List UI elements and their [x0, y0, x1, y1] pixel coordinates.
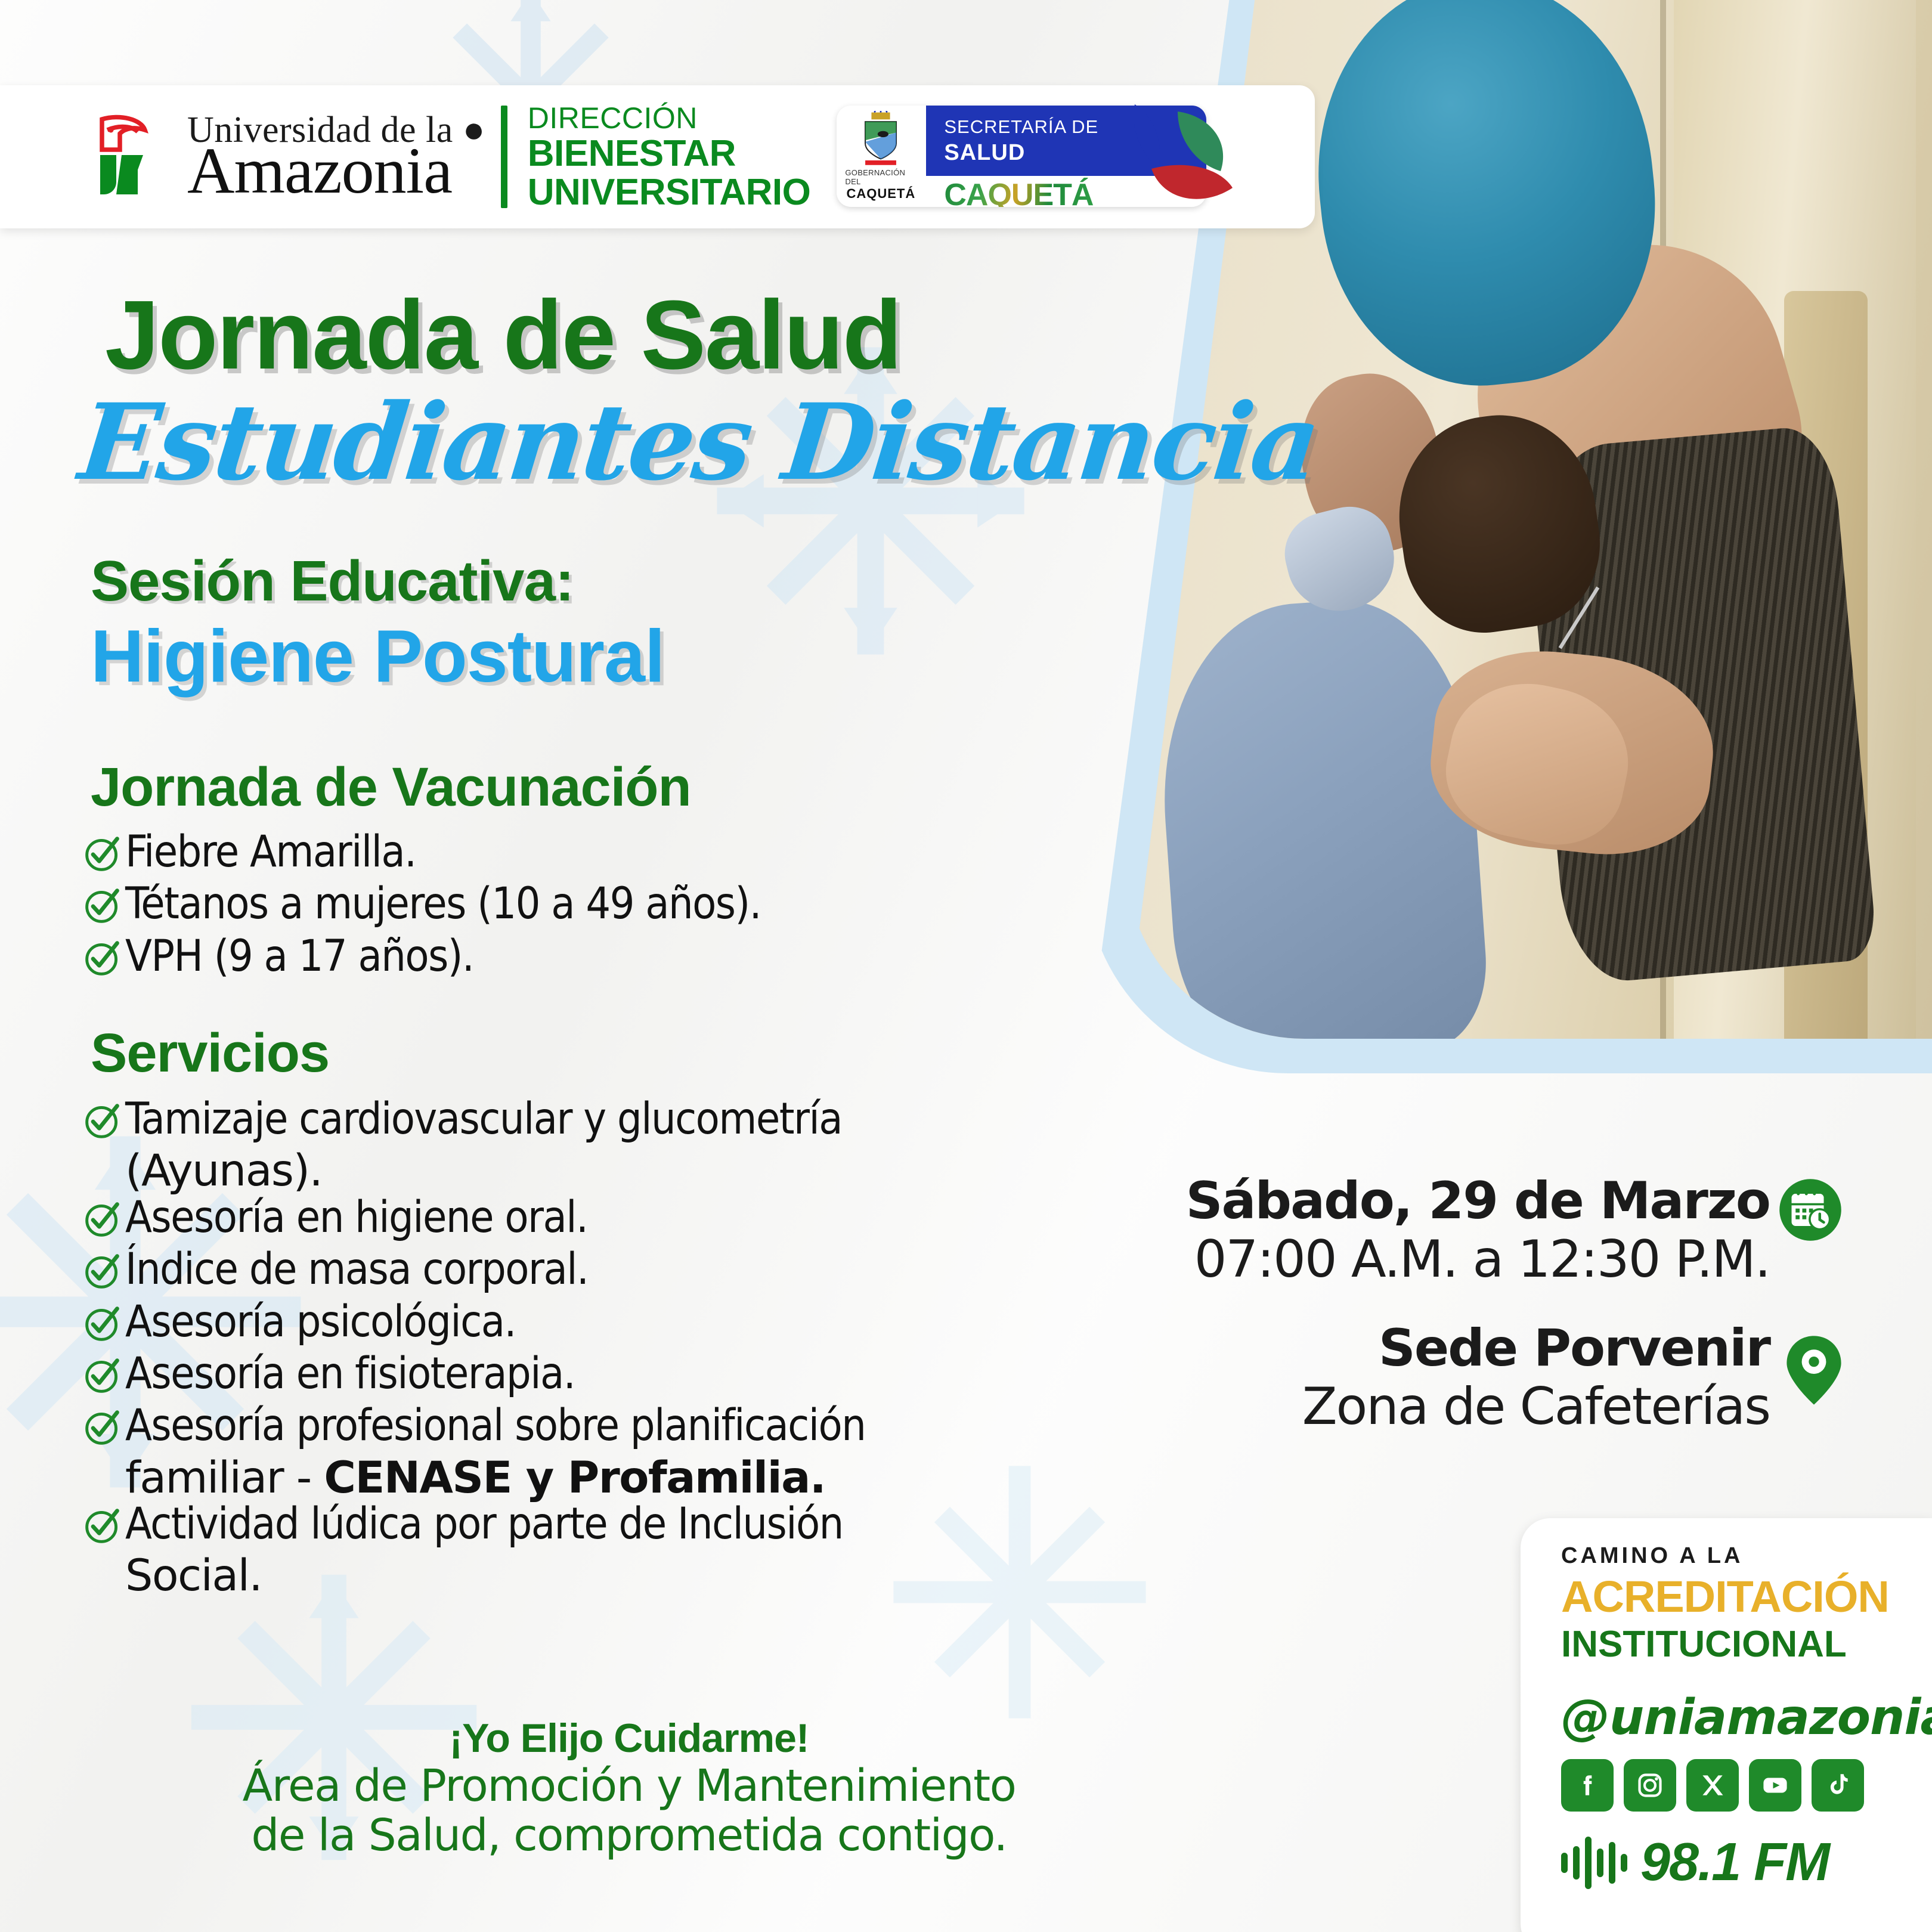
- list-item-label: VPH (9 a 17 años).: [125, 933, 473, 979]
- list-item: VPH (9 a 17 años).: [83, 933, 761, 979]
- check-circle-icon: [83, 1252, 122, 1290]
- list-item-continuation: (Ayunas).: [125, 1148, 865, 1194]
- poster-canvas: Universidad de la ● Amazonia DIRECCIÓN B…: [0, 0, 1932, 1932]
- event-datetime: Sábado, 29 de Marzo 07:00 A.M. a 12:30 P…: [1186, 1172, 1770, 1289]
- salud-label: SALUD: [944, 140, 1025, 166]
- accreditation-title: ACREDITACIÓN: [1561, 1571, 1932, 1622]
- session-topic: Higiene Postural: [91, 614, 664, 699]
- check-circle-icon: [83, 1357, 122, 1395]
- social-links-row: [1561, 1759, 1932, 1812]
- direction-label: DIRECCIÓN: [528, 103, 811, 133]
- vaccination-list: Fiebre Amarilla.Tétanos a mujeres (10 a …: [83, 829, 761, 985]
- check-circle-icon: [83, 1102, 122, 1140]
- list-item: Tétanos a mujeres (10 a 49 años).: [83, 881, 761, 927]
- caqueta-ribbon-graphic: [1063, 97, 1266, 216]
- header-divider: [501, 106, 507, 208]
- list-item-continuation: familiar - CENASE y Profamilia.: [125, 1455, 865, 1501]
- list-item-label: Asesoría psicológica.: [125, 1299, 516, 1345]
- list-item-label: Fiebre Amarilla.: [125, 829, 416, 875]
- toucan-logo-icon: [89, 112, 179, 202]
- list-item-label: Tétanos a mujeres (10 a 49 años).: [125, 881, 761, 927]
- event-location: Sede Porvenir Zona de Cafeterías: [1302, 1319, 1770, 1436]
- direction-block: DIRECCIÓN BIENESTAR UNIVERSITARIO: [528, 103, 811, 211]
- check-circle-icon: [83, 887, 122, 925]
- list-item: Asesoría en fisioterapia.: [83, 1351, 865, 1397]
- accreditation-camino: CAMINO A LA: [1561, 1543, 1932, 1569]
- services-heading: Servicios: [91, 1022, 329, 1085]
- check-circle-icon: [83, 1200, 122, 1239]
- list-item: Asesoría profesional sobre planificación…: [83, 1402, 865, 1501]
- caqueta-coat-of-arms-icon: GOBERNACIÓN DEL CAQUETÁ: [845, 111, 917, 202]
- services-list: Tamizaje cardiovascular y glucometría(Ay…: [83, 1096, 865, 1599]
- vaccination-heading: Jornada de Vacunación: [91, 756, 691, 819]
- audio-wave-icon: [1561, 1835, 1627, 1890]
- header-logo-bar: Universidad de la ● Amazonia DIRECCIÓN B…: [0, 85, 1315, 228]
- accreditation-card: CAMINO A LA ACREDITACIÓN INSTITUCIONAL @…: [1521, 1518, 1932, 1932]
- list-item-continuation: Social.: [125, 1553, 865, 1599]
- slogan-line2: Área de Promoción y Mantenimiento: [0, 1761, 1258, 1811]
- facebook-icon[interactable]: [1561, 1759, 1614, 1812]
- snowflake-decoration: [883, 1455, 1157, 1729]
- list-item-label: Asesoría profesional sobre planificación: [125, 1402, 865, 1448]
- direction-bienestar: BIENESTAR: [528, 135, 811, 172]
- session-label: Sesión Educativa:: [91, 549, 574, 614]
- tiktok-icon[interactable]: [1812, 1759, 1864, 1812]
- list-item: Asesoría en higiene oral.: [83, 1194, 865, 1240]
- slogan-line3: de la Salud, comprometida contigo.: [0, 1811, 1258, 1860]
- check-circle-icon: [83, 1305, 122, 1343]
- location-pin-icon: [1785, 1335, 1843, 1406]
- list-item-label: Asesoría en fisioterapia.: [125, 1351, 575, 1397]
- direction-universitario: UNIVERSITARIO: [528, 174, 811, 211]
- radio-station: 98.1 FM: [1561, 1832, 1932, 1893]
- list-item: Fiebre Amarilla.: [83, 829, 761, 875]
- check-circle-icon: [83, 1408, 122, 1447]
- closing-slogan: ¡Yo Elijo Cuidarme! Área de Promoción y …: [0, 1715, 1258, 1860]
- check-circle-icon: [83, 939, 122, 977]
- event-date: Sábado, 29 de Marzo: [1186, 1172, 1770, 1230]
- list-item-label: Tamizaje cardiovascular y glucometría: [125, 1096, 842, 1142]
- list-item: Asesoría psicológica.: [83, 1299, 865, 1345]
- event-venue: Sede Porvenir: [1302, 1319, 1770, 1377]
- poster-title-line2: Estudiantes Distancia: [74, 380, 1324, 504]
- radio-frequency: 98.1 FM: [1640, 1832, 1829, 1893]
- list-item-label: Asesoría en higiene oral.: [125, 1194, 587, 1240]
- list-item: Tamizaje cardiovascular y glucometría(Ay…: [83, 1096, 865, 1194]
- slogan-line1: ¡Yo Elijo Cuidarme!: [0, 1715, 1258, 1761]
- poster-title-line1: Jornada de Salud: [105, 279, 901, 391]
- seal-department: CAQUETÁ: [846, 186, 915, 202]
- youtube-icon[interactable]: [1749, 1759, 1801, 1812]
- list-item-label: Índice de masa corporal.: [125, 1246, 588, 1292]
- caqueta-health-seal: GOBERNACIÓN DEL CAQUETÁ SECRETARÍA DE SA…: [837, 97, 1254, 216]
- event-time: 07:00 A.M. a 12:30 P.M.: [1186, 1230, 1770, 1289]
- x-twitter-icon[interactable]: [1686, 1759, 1739, 1812]
- check-circle-icon: [83, 835, 122, 873]
- calendar-clock-icon: [1778, 1178, 1843, 1242]
- event-area: Zona de Cafeterías: [1302, 1377, 1770, 1436]
- check-circle-icon: [83, 1507, 122, 1545]
- social-handle[interactable]: @uniamazonia: [1561, 1689, 1932, 1746]
- list-item: Actividad lúdica por parte de InclusiónS…: [83, 1501, 865, 1599]
- seal-gov-label: GOBERNACIÓN DEL: [845, 168, 917, 186]
- university-name-line2: Amazonia: [187, 143, 485, 199]
- list-item-label: Actividad lúdica por parte de Inclusión: [125, 1501, 843, 1547]
- instagram-icon[interactable]: [1624, 1759, 1676, 1812]
- accreditation-subtitle: INSTITUCIONAL: [1561, 1623, 1932, 1665]
- list-item: Índice de masa corporal.: [83, 1246, 865, 1292]
- university-logo: Universidad de la ● Amazonia: [89, 112, 485, 202]
